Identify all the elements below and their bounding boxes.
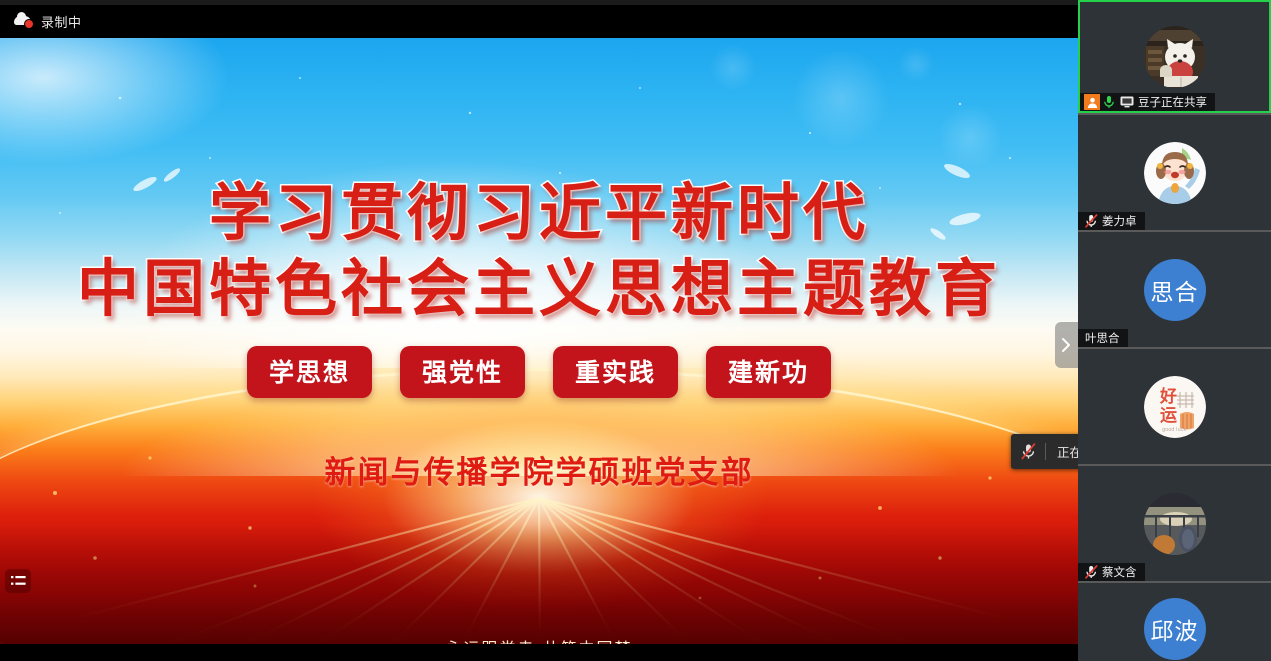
avatar-initials: 邱波 [1151, 612, 1199, 646]
participant-tile-qiubo[interactable]: 邱波 [1078, 583, 1271, 661]
participant-label: 豆子正在共享 [1138, 94, 1207, 110]
participant-name-tag: 姜力卓 [1078, 212, 1145, 230]
slide-tagline-row: 永远跟党走 共筑中国梦 [0, 635, 1078, 644]
toast-divider [1045, 443, 1046, 460]
avatar [1144, 493, 1206, 555]
keyword-pill: 重实践 [553, 346, 678, 398]
participant-name-tag: 蔡文含 [1078, 563, 1145, 581]
recording-status-label: 录制中 [41, 12, 82, 31]
avatar: 邱波 [1144, 598, 1206, 660]
recording-bar: 录制中 [0, 5, 1078, 38]
list-icon [11, 575, 26, 587]
participant-name-tag: 叶思合 [1078, 329, 1128, 347]
keyword-pill: 强党性 [400, 346, 525, 398]
mic-muted-icon [1085, 214, 1098, 228]
participant-name-tag: 豆子正在共享 [1080, 93, 1215, 111]
shared-content-stage[interactable]: 学习贯彻习近平新时代 中国特色社会主义思想主题教育 学思想 强党性 重实践 建新… [0, 38, 1078, 651]
participant-tile-caiwenhan[interactable]: 蔡文含 [1078, 466, 1271, 581]
participant-label: 叶思合 [1085, 330, 1120, 346]
participant-tile-yesihe[interactable]: 思合 叶思合 [1078, 232, 1271, 347]
svg-text:运: 运 [1160, 406, 1177, 426]
chevron-right-icon [1061, 337, 1072, 353]
participant-rail[interactable]: 豆子正在共享 [1078, 0, 1271, 661]
participant-tile-haoyun[interactable]: 好 运 good luck [1078, 349, 1271, 464]
host-icon [1084, 94, 1100, 110]
slide-title-line-2: 中国特色社会主义思想主题教育 [0, 238, 1078, 328]
slide-tagline: 永远跟党走 共筑中国梦 [445, 635, 632, 644]
avatar [1144, 142, 1206, 204]
slide-subtitle: 新闻与传播学院学硕班党支部 [0, 447, 1078, 492]
avatar: 好 运 good luck [1144, 376, 1206, 438]
avatar-initials: 思合 [1151, 273, 1199, 307]
presentation-slide: 学习贯彻习近平新时代 中国特色社会主义思想主题教育 学思想 强党性 重实践 建新… [0, 38, 1078, 644]
participant-tile-jianglizhuo[interactable]: 姜力卓 [1078, 115, 1271, 230]
mic-muted-icon [1011, 443, 1045, 460]
screen-share-icon [1120, 96, 1134, 108]
meeting-screen-share-window: 录制中 [0, 0, 1271, 661]
avatar: 思合 [1144, 259, 1206, 321]
cloud-record-icon [14, 14, 34, 29]
keyword-pill: 建新功 [706, 346, 831, 398]
mic-muted-icon [1085, 565, 1098, 579]
slide-letterbox-bottom [0, 644, 1078, 651]
collapse-panel-handle[interactable] [1055, 322, 1078, 368]
bottom-shade [0, 524, 1078, 644]
participant-label: 姜力卓 [1102, 213, 1137, 229]
participant-label: 蔡文含 [1102, 564, 1137, 580]
slide-keyword-pills: 学思想 强党性 重实践 建新功 [0, 346, 1078, 398]
participant-tile-douzi[interactable]: 豆子正在共享 [1078, 0, 1271, 113]
svg-text:好: 好 [1159, 386, 1177, 407]
avatar [1144, 26, 1206, 88]
svg-text:good luck: good luck [1162, 427, 1186, 433]
mic-active-icon [1103, 95, 1115, 109]
keyword-pill: 学思想 [247, 346, 372, 398]
slide-list-button[interactable] [5, 569, 31, 593]
